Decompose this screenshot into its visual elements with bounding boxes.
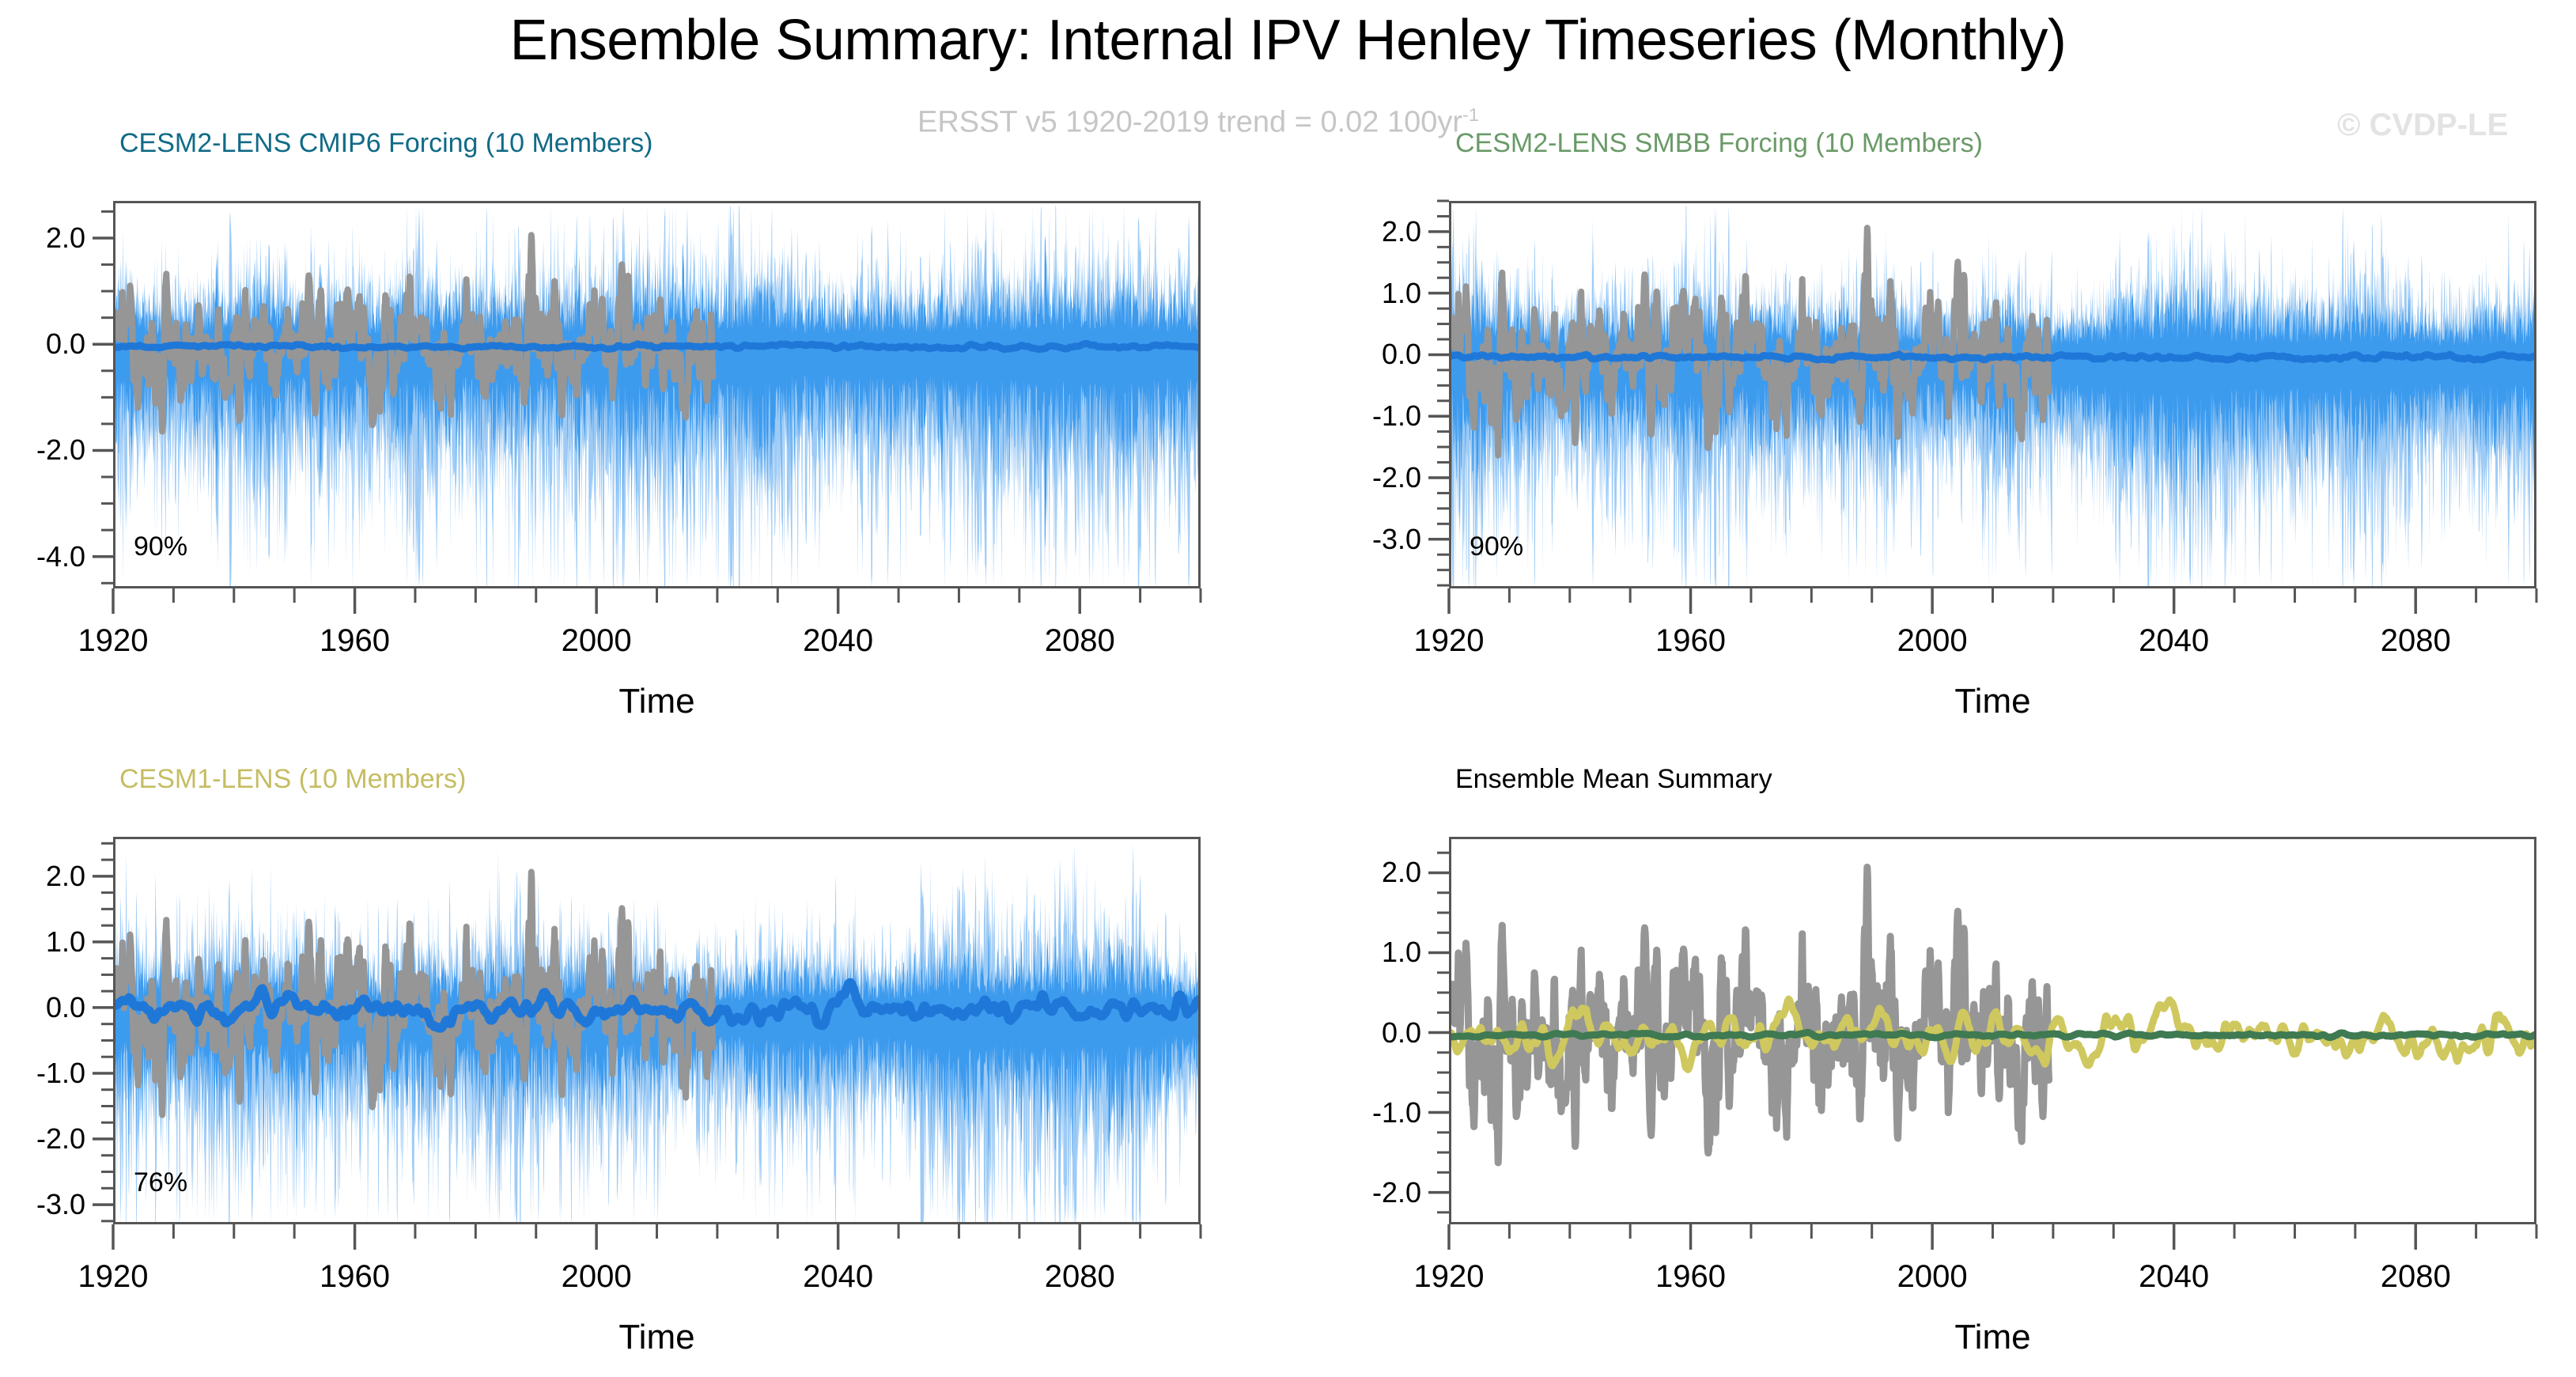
y-tick-label-cesm2-lens-smbb-4: -2.0 <box>1299 461 1421 494</box>
x-tick-label-cesm2-lens-smbb-4: 2080 <box>2381 623 2451 659</box>
plot-frame-cesm2-lens-cmip6 <box>113 201 1201 588</box>
x-tick-label-cesm2-lens-smbb-2: 2000 <box>1897 623 1968 659</box>
x-tick-label-cesm1-lens-4: 2080 <box>1045 1259 1115 1295</box>
page-title: Ensemble Summary: Internal IPV Henley Ti… <box>0 8 2576 73</box>
y-tick-label-cesm1-lens-2: 0.0 <box>0 991 85 1024</box>
y-tick-label-cesm2-lens-smbb-3: -1.0 <box>1299 399 1421 433</box>
x-tick-label-cesm2-lens-cmip6-1: 1960 <box>320 623 390 659</box>
ersst-watermark-exponent: -1 <box>1462 104 1479 125</box>
x-axis-title-cesm2-lens-smbb: Time <box>1954 682 2030 721</box>
x-tick-label-ensemble-mean-summary-3: 2040 <box>2139 1259 2209 1295</box>
panel-title-cesm2-lens-smbb: CESM2-LENS SMBB Forcing (10 Members) <box>1455 128 1983 159</box>
x-tick-label-cesm2-lens-cmip6-0: 1920 <box>78 623 149 659</box>
y-tick-label-cesm2-lens-smbb-2: 0.0 <box>1299 338 1421 371</box>
x-tick-label-cesm1-lens-0: 1920 <box>78 1259 149 1295</box>
ersst-watermark: ERSST v5 1920-2019 trend = 0.02 100yr-1 <box>917 104 1479 140</box>
x-tick-label-cesm2-lens-smbb-3: 2040 <box>2139 623 2209 659</box>
y-tick-label-ensemble-mean-summary-1: 1.0 <box>1299 936 1421 969</box>
y-tick-label-ensemble-mean-summary-3: -1.0 <box>1299 1096 1421 1129</box>
plot-canvas-cesm2-lens-smbb <box>1451 203 2536 588</box>
x-tick-label-ensemble-mean-summary-2: 2000 <box>1897 1259 1968 1295</box>
y-tick-label-cesm2-lens-smbb-5: -3.0 <box>1299 523 1421 556</box>
y-tick-label-cesm1-lens-4: -2.0 <box>0 1122 85 1156</box>
y-tick-label-ensemble-mean-summary-4: -2.0 <box>1299 1176 1421 1209</box>
plot-canvas-cesm2-lens-cmip6 <box>115 203 1201 588</box>
x-tick-label-ensemble-mean-summary-1: 1960 <box>1655 1259 1726 1295</box>
plot-canvas-cesm1-lens <box>115 839 1201 1224</box>
x-tick-label-ensemble-mean-summary-4: 2080 <box>2381 1259 2451 1295</box>
y-tick-label-cesm2-lens-cmip6-1: 0.0 <box>0 327 85 361</box>
panel-title-cesm2-lens-cmip6: CESM2-LENS CMIP6 Forcing (10 Members) <box>119 128 653 159</box>
x-tick-label-cesm2-lens-smbb-0: 1920 <box>1414 623 1485 659</box>
y-tick-label-cesm1-lens-0: 2.0 <box>0 860 85 893</box>
y-tick-label-cesm1-lens-5: -3.0 <box>0 1188 85 1221</box>
x-axis-title-cesm1-lens: Time <box>618 1318 694 1357</box>
y-tick-label-cesm1-lens-1: 1.0 <box>0 925 85 959</box>
panel-title-ensemble-mean-summary: Ensemble Mean Summary <box>1455 764 1772 795</box>
y-tick-label-cesm2-lens-cmip6-3: -4.0 <box>0 540 85 573</box>
coverage-label-cesm2-lens-cmip6: 90% <box>134 532 187 562</box>
x-tick-label-cesm2-lens-smbb-1: 1960 <box>1655 623 1726 659</box>
x-tick-label-cesm2-lens-cmip6-4: 2080 <box>1045 623 1115 659</box>
y-tick-label-ensemble-mean-summary-2: 0.0 <box>1299 1016 1421 1050</box>
y-tick-label-cesm2-lens-cmip6-0: 2.0 <box>0 221 85 255</box>
y-tick-label-cesm1-lens-3: -1.0 <box>0 1057 85 1090</box>
x-tick-label-cesm2-lens-cmip6-2: 2000 <box>562 623 632 659</box>
x-tick-label-cesm2-lens-cmip6-3: 2040 <box>803 623 873 659</box>
plot-canvas-ensemble-mean-summary <box>1451 839 2536 1224</box>
coverage-label-cesm2-lens-smbb: 90% <box>1470 532 1523 562</box>
x-tick-label-ensemble-mean-summary-0: 1920 <box>1414 1259 1485 1295</box>
figure-root: Ensemble Summary: Internal IPV Henley Ti… <box>0 0 2576 1377</box>
x-axis-title-ensemble-mean-summary: Time <box>1954 1318 2030 1357</box>
y-tick-label-cesm2-lens-cmip6-2: -2.0 <box>0 433 85 467</box>
x-tick-label-cesm1-lens-1: 1960 <box>320 1259 390 1295</box>
x-tick-label-cesm1-lens-2: 2000 <box>562 1259 632 1295</box>
panel-title-cesm1-lens: CESM1-LENS (10 Members) <box>119 764 466 795</box>
cvdp-copyright-watermark: © CVDP-LE <box>2337 108 2508 143</box>
plot-frame-ensemble-mean-summary <box>1449 837 2536 1224</box>
ersst-watermark-text: ERSST v5 1920-2019 trend = 0.02 100yr <box>917 106 1462 139</box>
plot-frame-cesm2-lens-smbb <box>1449 201 2536 588</box>
x-tick-label-cesm1-lens-3: 2040 <box>803 1259 873 1295</box>
y-tick-label-cesm2-lens-smbb-1: 1.0 <box>1299 277 1421 310</box>
coverage-label-cesm1-lens: 76% <box>134 1167 187 1198</box>
cesm2-ensemble-mean-series-ensemble-mean-summary <box>1451 1032 2536 1038</box>
x-axis-title-cesm2-lens-cmip6: Time <box>618 682 694 721</box>
y-tick-label-cesm2-lens-smbb-0: 2.0 <box>1299 215 1421 248</box>
y-tick-label-ensemble-mean-summary-0: 2.0 <box>1299 856 1421 889</box>
plot-frame-cesm1-lens <box>113 837 1201 1224</box>
